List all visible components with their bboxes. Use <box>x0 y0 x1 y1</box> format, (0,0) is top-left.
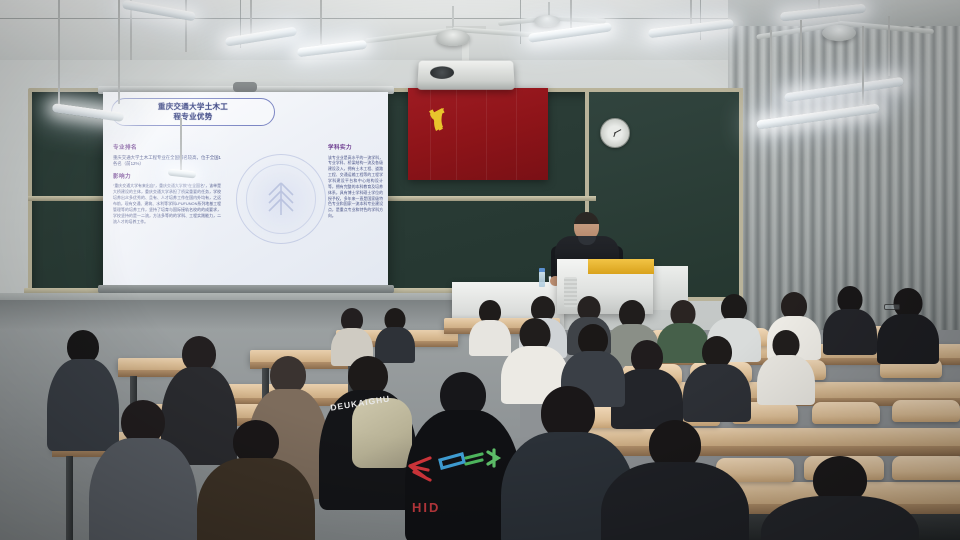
jacket-print-text-2: HID <box>412 500 440 515</box>
student <box>682 336 752 418</box>
student-foreground <box>88 400 198 540</box>
projection-screen: 重庆交通大学土木工 程专业优势 专业排名 重庆交通大学土木工程专业在全国排名较高… <box>103 92 388 287</box>
water-bottle <box>539 271 545 287</box>
university-logo-icon <box>260 177 302 221</box>
ceiling-seam <box>0 18 760 19</box>
chair-back <box>812 402 880 424</box>
ceiling-projector <box>417 61 515 90</box>
left-body-2: “重庆交通大学有来出自”，重庆交通大学教”在全国名”，该单是大桥建设的主体，重庆… <box>113 183 221 224</box>
screen-roller <box>233 82 257 92</box>
left-body: 重庆交通大学土木工程专业在全国排名较高，位于全国1各名（前12%） <box>113 155 221 168</box>
ceiling-seam <box>700 0 701 40</box>
university-seal-watermark <box>236 154 326 244</box>
projector-lens-icon <box>430 66 454 79</box>
student <box>330 308 374 362</box>
right-heading: 学科实力 <box>328 144 383 153</box>
student-foreground <box>760 456 920 540</box>
screen-bottom-rail <box>98 285 394 293</box>
slide-title: 重庆交通大学土木工 程专业优势 <box>111 98 275 126</box>
curtain-shading <box>728 0 960 330</box>
classroom-photo: 重庆交通大学土木工 程专业优势 专业排名 重庆交通大学土木工程专业在全国排名较高… <box>0 0 960 540</box>
slide-right-column: 学科实力 该专业业是高水平的一流学科，专业学科、桥梁结构一流及各级建设及入，拥有… <box>328 144 383 224</box>
presentation-slide: 重庆交通大学土木工 程专业优势 专业排名 重庆交通大学土木工程专业在全国排名较高… <box>103 92 388 287</box>
hammer-sickle-icon <box>426 100 466 140</box>
left-heading: 专业排名 <box>113 144 221 153</box>
student <box>876 288 940 358</box>
backpack <box>352 398 412 468</box>
party-flag <box>408 88 548 180</box>
student-foreground <box>196 420 316 540</box>
left-heading-2: 影响力 <box>113 173 221 182</box>
podium-top-surface <box>588 259 654 274</box>
slide-left-column: 专业排名 重庆交通大学土木工程专业在全国排名较高，位于全国1各名（前12%） 影… <box>113 144 221 229</box>
desk-leg <box>66 456 73 540</box>
student-foreground <box>600 420 750 540</box>
jacket-graphic-icon <box>404 440 514 486</box>
bottle-cap <box>539 268 545 272</box>
student <box>374 308 416 360</box>
slide-title-line1: 重庆交通大学土木工 <box>118 102 268 112</box>
floor-shadow <box>0 300 520 330</box>
wall-clock <box>600 118 630 148</box>
student <box>756 330 816 400</box>
student <box>822 286 878 350</box>
chair-back <box>892 400 960 422</box>
right-body: 该专业业是高水平的一流学科，专业学科、桥梁结构一流及各级建设及入，拥有土木工程、… <box>328 155 383 219</box>
slide-title-line2: 程专业优势 <box>118 112 268 122</box>
